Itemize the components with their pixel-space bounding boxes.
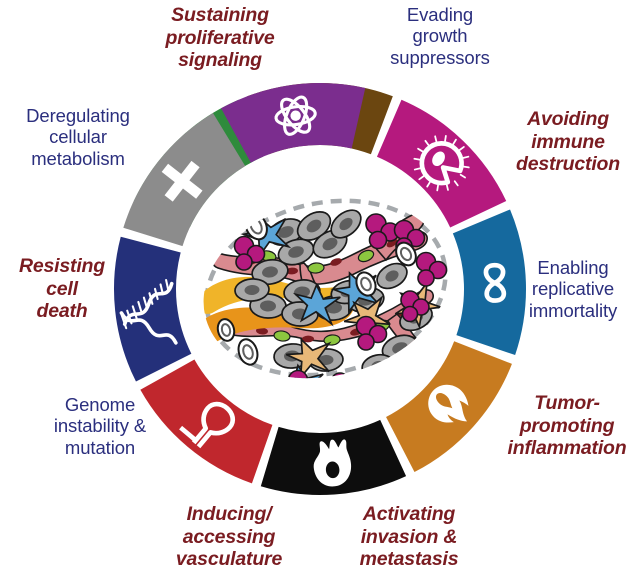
label-sustaining-proliferative-signaling: Sustaining proliferative signaling bbox=[125, 4, 315, 72]
label-activating-invasion-and-metastasis: Activating invasion & metastasis bbox=[332, 503, 486, 571]
label-deregulating-cellular-metabolism: Deregulating cellular metabolism bbox=[6, 105, 150, 169]
tumor-microenvironment-illustration bbox=[180, 169, 471, 408]
hallmark-segment-genome-instability-and-mutation[interactable] bbox=[114, 237, 191, 382]
label-genome-instability-and-mutation: Genome instability & mutation bbox=[30, 394, 170, 458]
label-evading-growth-suppressors: Evading growth suppressors bbox=[362, 4, 518, 68]
label-enabling-replicative-immortality: Enabling replicative immortality bbox=[510, 257, 636, 321]
label-avoiding-immune-destruction: Avoiding immune destruction bbox=[497, 108, 639, 176]
label-resisting-cell-death: Resisting cell death bbox=[0, 255, 124, 323]
label-inducing-accessing-vasculature: Inducing/ accessing vasculature bbox=[152, 503, 306, 571]
label-tumor-promoting-inflammation: Tumor- promoting inflammation bbox=[494, 392, 640, 460]
hallmarks-of-cancer-figure: Sustaining proliferative signaling Evadi… bbox=[0, 0, 640, 587]
